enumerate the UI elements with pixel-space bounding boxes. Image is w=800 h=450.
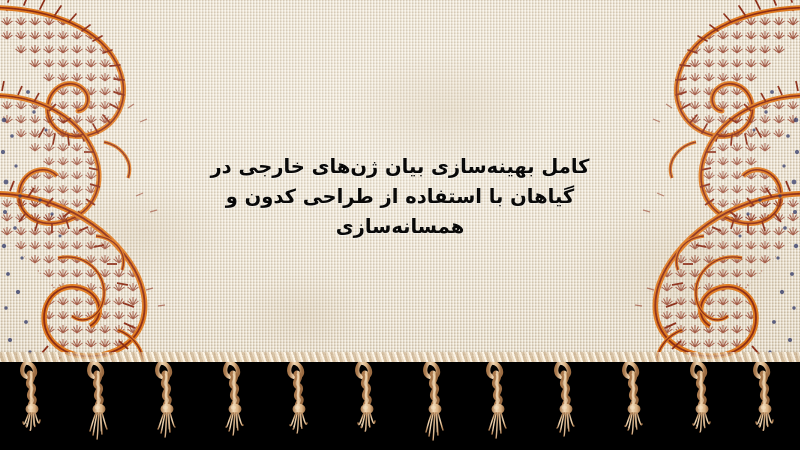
tassel — [222, 362, 248, 442]
tassel — [286, 362, 312, 442]
tassel — [19, 362, 45, 442]
title-line-1: کامل بهینه‌سازی بیان ژن‌های خارجی در — [0, 152, 800, 182]
tassel — [621, 362, 647, 442]
tassel — [86, 362, 112, 442]
slide-title: کامل بهینه‌سازی بیان ژن‌های خارجی در گیا… — [0, 152, 800, 242]
tassel-fringe — [0, 362, 800, 450]
tassel — [689, 362, 715, 442]
tassel — [422, 362, 448, 442]
title-line-3: همسانه‌سازی — [0, 212, 800, 242]
tassel — [553, 362, 579, 442]
tassel — [752, 362, 778, 442]
slide-canvas: کامل بهینه‌سازی بیان ژن‌های خارجی در گیا… — [0, 0, 800, 450]
tassel — [485, 362, 511, 442]
tassel — [154, 362, 180, 442]
title-line-2: گیاهان با استفاده از طراحی کدون و — [0, 182, 800, 212]
tassel — [354, 362, 380, 442]
